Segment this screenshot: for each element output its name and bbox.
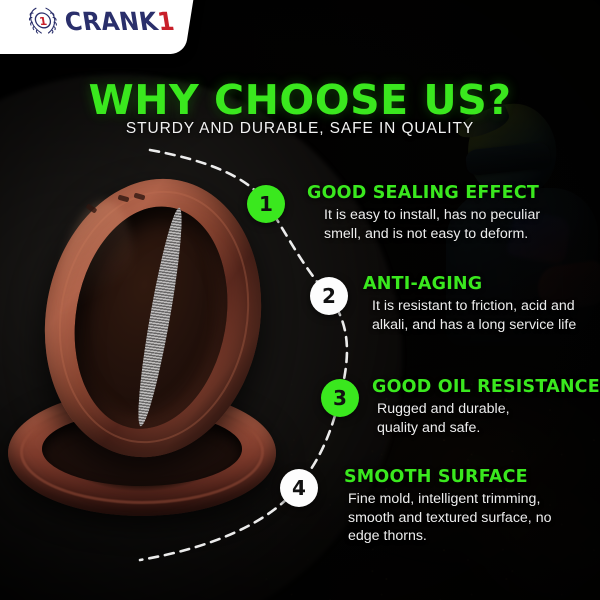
feature-body-4: Fine mold, intelligent trimming, smooth … bbox=[348, 490, 551, 546]
feature-title-4: SMOOTH SURFACE bbox=[344, 467, 551, 487]
feature-badge-4: 4 bbox=[280, 469, 318, 507]
feature-body-3: Rugged and durable, quality and safe. bbox=[377, 400, 600, 437]
feature-item-4: SMOOTH SURFACE Fine mold, intelligent tr… bbox=[344, 467, 551, 546]
feature-badge-2: 2 bbox=[310, 277, 348, 315]
feature-number-2: 2 bbox=[322, 284, 336, 308]
why-choose-us-infographic: 1 CRANK1 WHY CHOOSE US? STURDY AND DURAB… bbox=[0, 0, 600, 600]
feature-number-4: 4 bbox=[292, 476, 306, 500]
feature-body-2: It is resistant to friction, acid and al… bbox=[372, 297, 576, 334]
feature-title-2: ANTI-AGING bbox=[363, 274, 576, 294]
feature-title-3: GOOD OIL RESISTANCE bbox=[372, 377, 600, 397]
feature-number-3: 3 bbox=[333, 386, 347, 410]
feature-item-2: ANTI-AGING It is resistant to friction, … bbox=[363, 274, 576, 334]
feature-item-3: GOOD OIL RESISTANCE Rugged and durable, … bbox=[372, 377, 600, 437]
feature-body-1: It is easy to install, has no peculiar s… bbox=[324, 206, 540, 243]
feature-title-1: GOOD SEALING EFFECT bbox=[307, 183, 540, 203]
feature-badge-3: 3 bbox=[321, 379, 359, 417]
feature-item-1: GOOD SEALING EFFECT It is easy to instal… bbox=[307, 183, 540, 243]
feature-badge-1: 1 bbox=[247, 185, 285, 223]
feature-number-1: 1 bbox=[259, 192, 273, 216]
